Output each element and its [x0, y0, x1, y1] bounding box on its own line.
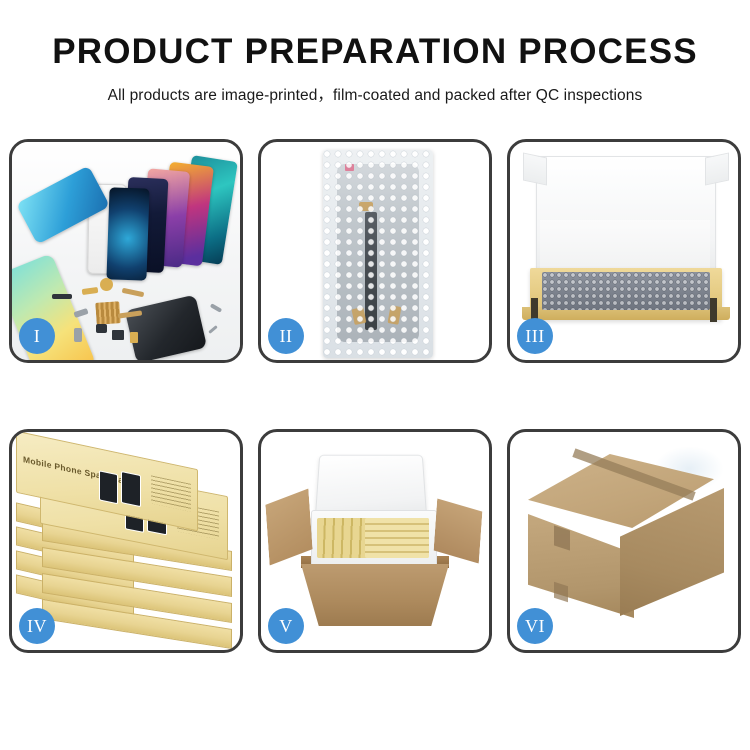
spare-part-gold-disc [100, 278, 113, 291]
step-badge-3: III [517, 318, 553, 354]
page-title: PRODUCT PREPARATION PROCESS [0, 34, 750, 71]
pink-label-tab [345, 164, 354, 171]
step-panel-1[interactable]: I [9, 139, 243, 363]
step-badge-4: IV [19, 608, 55, 644]
connector-top [359, 202, 373, 211]
step-badge-5: V [268, 608, 304, 644]
box-phone-thumb-1b [121, 471, 141, 507]
box-phone-thumb-1a [99, 470, 118, 504]
box-corner-right [710, 298, 717, 322]
step-panel-3[interactable]: III [507, 139, 741, 363]
bubble-wrap-pouch [323, 150, 433, 358]
page-header: PRODUCT PREPARATION PROCESS All products… [0, 0, 750, 105]
step-badge-2: II [268, 318, 304, 354]
page-subtitle: All products are image-printed，film-coat… [0, 83, 750, 105]
box-spec-lines-1 [151, 475, 191, 512]
lcd-flex-cable [365, 212, 377, 330]
spare-part-camera-module [96, 324, 107, 333]
spare-part-speaker [112, 330, 124, 340]
spare-part-bracket [52, 294, 72, 299]
carton-front-face [528, 514, 634, 618]
step-panel-4[interactable]: Mobile Phone Spare Parts Mobile Phone Sp… [9, 429, 243, 653]
process-steps-grid: I II III [9, 139, 741, 653]
spare-part-sim-tray [74, 328, 82, 342]
step-panel-6[interactable]: VI [507, 429, 741, 653]
lid-flap-left [523, 152, 547, 185]
spare-part-vibrator [130, 332, 138, 343]
step-panel-5[interactable]: V [258, 429, 492, 653]
carton-flap-left [264, 489, 313, 566]
carton-flap-right [433, 498, 483, 563]
lcd-screen-inside [337, 164, 419, 342]
lid-flap-right [705, 152, 729, 185]
chip-grid-part [95, 301, 120, 325]
phone-screen-blue-glow [106, 187, 149, 280]
carton-body [301, 564, 449, 626]
box-label-1: Mobile Phone Spare Parts [23, 454, 135, 488]
step-badge-1: I [19, 318, 55, 354]
grey-bubble-padding [542, 272, 710, 310]
step-panel-2[interactable]: II [258, 139, 492, 363]
step-badge-6: VI [517, 608, 553, 644]
yellow-boxes-row-2 [365, 518, 429, 558]
carton-tab-lower [554, 582, 568, 603]
